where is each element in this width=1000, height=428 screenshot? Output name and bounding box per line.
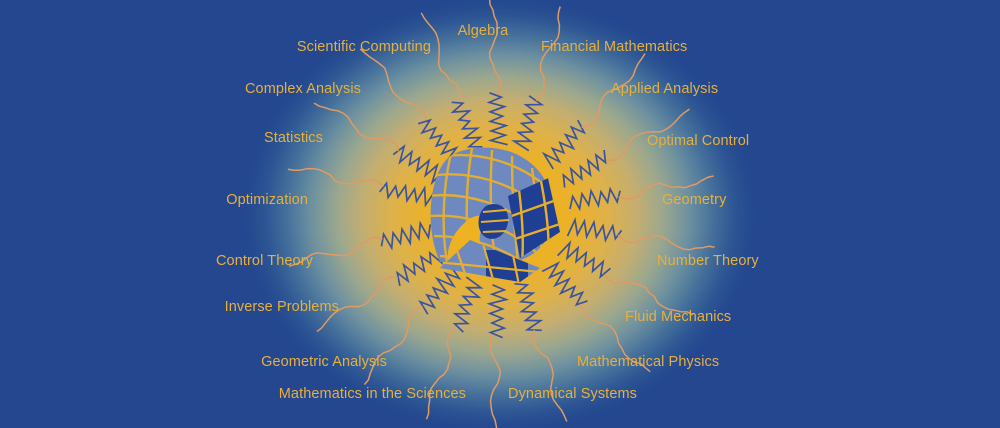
ray-outer-wave [421,13,460,102]
ray-inner-zigzag [563,150,605,188]
ray-inner-zigzag [489,93,508,145]
ray-inner-zigzag [420,264,459,315]
logo-tail [430,232,560,292]
ray-lines-layer [0,0,1000,428]
ray-outer-wave [427,326,456,419]
ray-inner-zigzag [489,285,506,338]
ray-inner-zigzag [397,245,441,286]
label-complex-analysis: Complex Analysis [245,82,361,97]
ray-outer-wave [618,235,714,250]
label-fluid-mechanics: Fluid Mechanics [625,310,731,325]
label-algebra: Algebra [458,24,509,39]
label-optimal-control: Optimal Control [647,134,749,149]
ray-inner-zigzag [514,284,541,331]
label-geometric-analysis: Geometric Analysis [261,355,387,370]
logo-plates-dark [495,165,575,270]
ray-inner-zigzag [514,96,542,151]
poster-canvas: AlgebraScientific ComputingFinancial Mat… [0,0,1000,428]
label-statistics: Statistics [264,131,323,146]
label-scientific-computing: Scientific Computing [297,40,431,55]
ray-inner-zigzag [558,243,611,277]
label-control-theory: Control Theory [216,254,313,269]
wias-institute-logo [0,0,1000,428]
label-mathematics-in-the-sciences: Mathematics in the Sciences [279,387,466,402]
ray-outer-wave [314,103,398,151]
ray-inner-zigzag [393,146,445,182]
ray-inner-zigzag [568,220,622,240]
ray-inner-zigzag [542,263,587,305]
logo-inner-eye [479,204,509,239]
ray-outer-wave [490,0,502,95]
ray-outer-wave [532,330,567,422]
ray-outer-wave [288,169,384,187]
ray-inner-zigzag [544,120,584,169]
label-optimization: Optimization [226,193,308,208]
ray-outer-wave [360,49,426,120]
ray-inner-zigzag [452,102,483,147]
label-applied-analysis: Applied Analysis [611,82,718,97]
ray-inner-zigzag [382,223,431,248]
label-geometry: Geometry [662,193,726,208]
logo-shell-light [420,140,580,280]
ray-outer-wave [490,335,500,428]
ray-outer-wave [365,307,423,385]
ray-inner-zigzag [455,277,481,332]
label-inverse-problems: Inverse Problems [225,300,339,315]
label-financial-mathematics: Financial Mathematics [541,40,687,55]
label-mathematical-physics: Mathematical Physics [577,355,719,370]
ray-inner-zigzag [570,189,620,209]
label-dynamical-systems: Dynamical Systems [508,387,637,402]
ray-inner-zigzag [418,120,462,163]
ray-inner-zigzag [380,183,433,205]
label-number-theory: Number Theory [657,254,759,269]
